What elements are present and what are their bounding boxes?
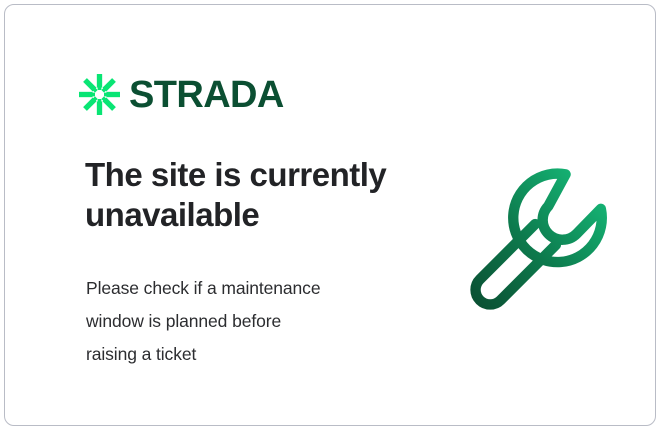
status-description: Please check if a maintenance window is …: [86, 272, 406, 371]
strada-asterisk-icon: [79, 74, 120, 115]
page-title: The site is currently unavailable: [85, 155, 425, 234]
description-line: raising a ticket: [86, 338, 406, 371]
brand-wordmark: STRADA: [129, 76, 284, 114]
status-card: STRADA The site is currently unavailable…: [4, 4, 656, 426]
wrench-icon: [457, 157, 623, 323]
description-line: window is planned before: [86, 305, 406, 338]
brand-logo: STRADA: [79, 74, 284, 115]
description-line: Please check if a maintenance: [86, 272, 406, 305]
